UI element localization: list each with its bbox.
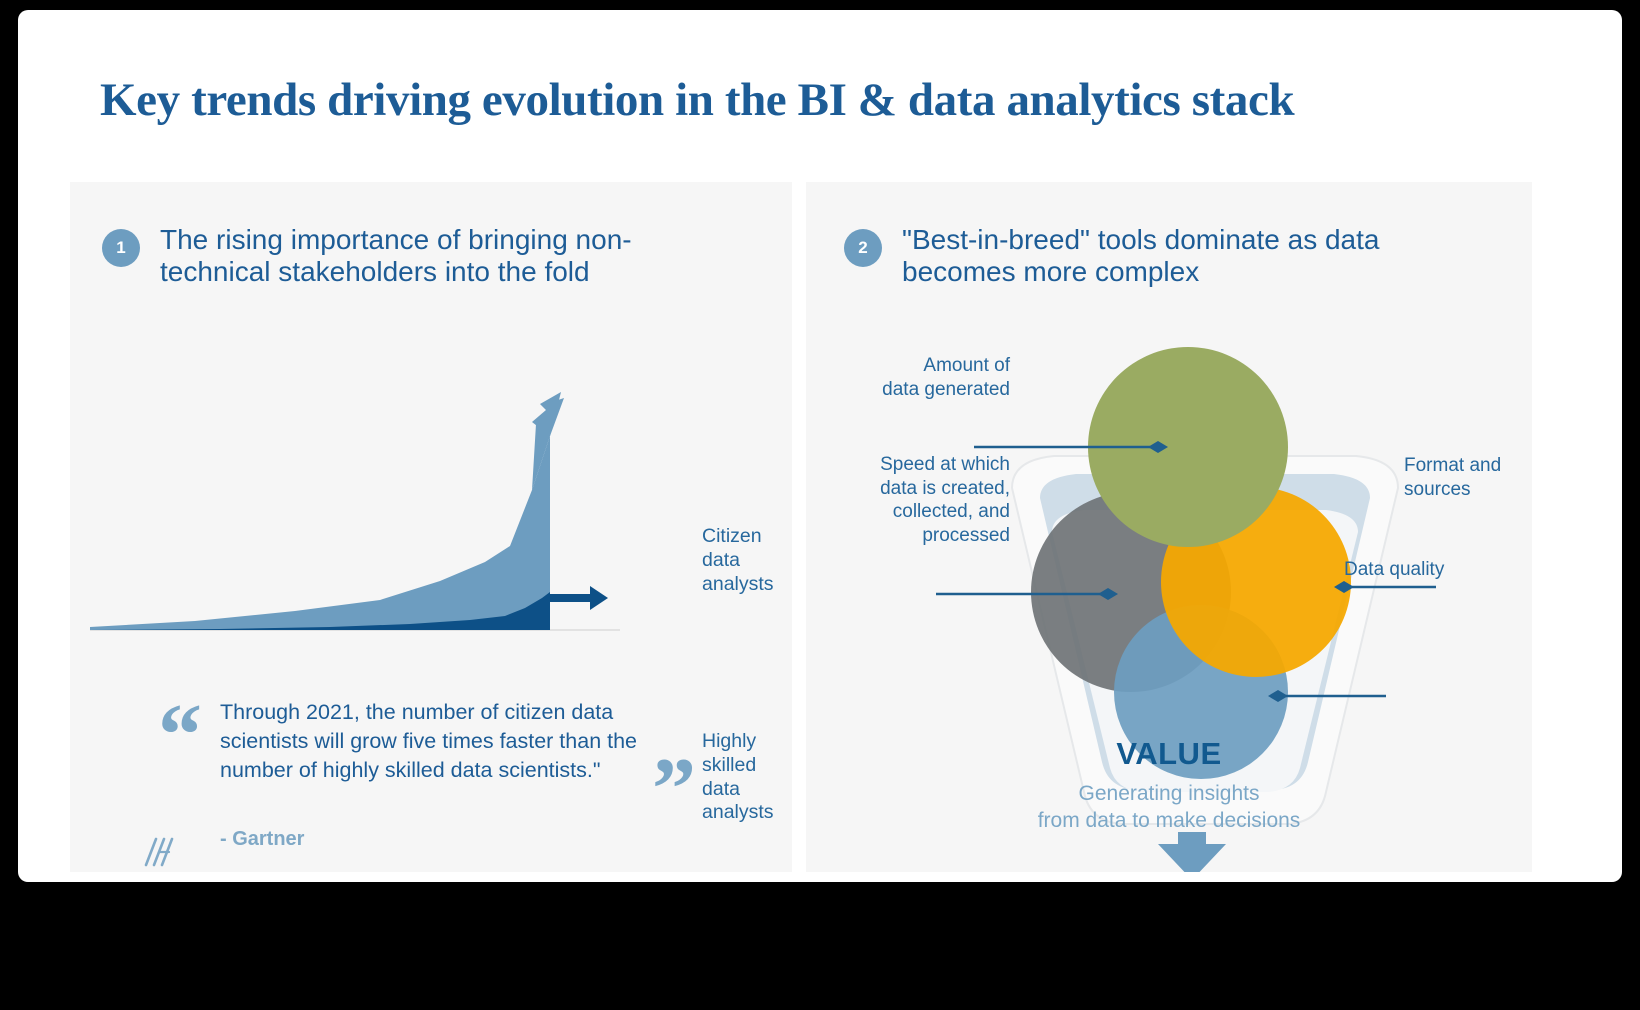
page-title: Key trends driving evolution in the BI &… [100,76,1520,125]
panel-2-number-badge: 2 [844,229,882,267]
panel-1-header: 1 The rising importance of bringing non-… [102,224,720,288]
callout-data-quality: Data quality [1344,558,1504,582]
down-arrow-icon [1158,832,1226,872]
callout-speed-of-data: Speed at whichdata is created,collected,… [856,453,1010,547]
slide-canvas: Key trends driving evolution in the BI &… [18,10,1622,882]
area-citizen-analysts [90,436,550,630]
brand-slashes-logo-icon [142,837,176,867]
callout-amount-of-data-generated: Amount ofdata generated [870,354,1010,401]
chart-label-citizen-analysts: Citizen dataanalysts [702,525,792,596]
callout-format-and-sources: Format andsources [1404,454,1554,501]
panel-2-heading: "Best-in-breed" tools dominate as data b… [902,224,1462,288]
quote-source: - Gartner [220,828,304,851]
value-title: VALUE [806,736,1532,772]
chart-label-highly-skilled-analysts: Highly skilleddata analysts [702,730,792,825]
panel-1-number-badge: 1 [102,229,140,267]
quote-open-mark: “ [158,692,202,780]
panel-trend-1: 1 The rising importance of bringing non-… [70,182,792,872]
growth-area-chart [80,332,780,662]
arrow-right-highly-skilled [550,586,608,610]
quote-text: Through 2021, the number of citizen data… [220,698,668,784]
panel-1-heading: The rising importance of bringing non-te… [160,224,720,288]
value-caption: Generating insightsfrom data to make dec… [806,780,1532,835]
panel-2-header: 2 "Best-in-breed" tools dominate as data… [844,224,1462,288]
